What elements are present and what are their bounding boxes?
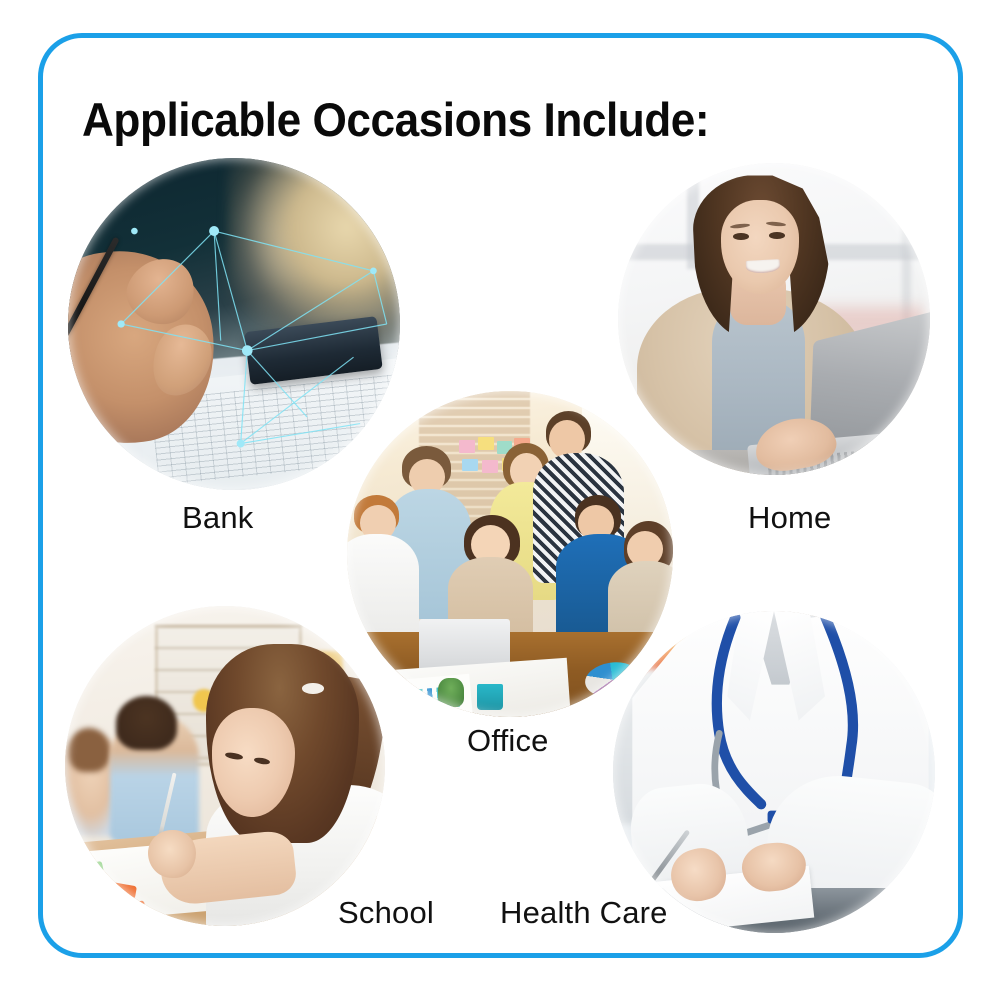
health-care-scene <box>613 611 935 933</box>
sticky-note <box>462 459 478 472</box>
sticky-note <box>478 437 494 450</box>
sticky-note <box>482 460 498 473</box>
school-scene <box>65 606 385 926</box>
occasion-image-health-care <box>613 611 935 933</box>
occasion-label-school: School <box>338 895 434 931</box>
school-background-child-hair <box>116 696 177 750</box>
school-girl-hand <box>148 830 196 878</box>
plant-icon <box>438 678 464 707</box>
occasion-label-health-care: Health Care <box>500 895 668 931</box>
occasion-label-home: Home <box>748 500 832 536</box>
occasion-label-bank: Bank <box>182 500 253 536</box>
school-girl-hair-tie <box>302 683 324 694</box>
occasion-image-school <box>65 606 385 926</box>
home-window-frame <box>902 163 911 325</box>
page-title: Applicable Occasions Include: <box>82 96 709 143</box>
pen-cup-icon <box>477 684 503 710</box>
sticky-note <box>459 440 475 453</box>
school-background-child-hair <box>68 728 110 773</box>
occasion-label-office: Office <box>467 723 549 759</box>
